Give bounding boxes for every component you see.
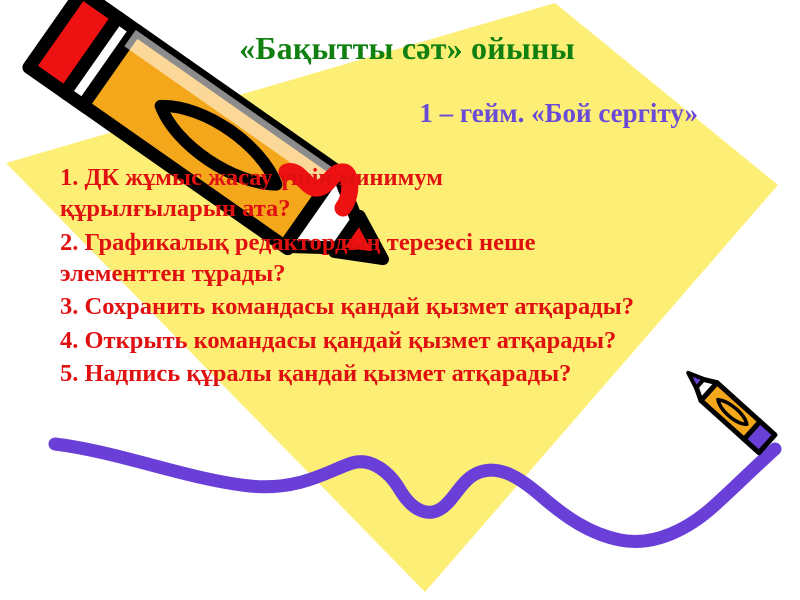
question-item-2: 2. Графикалық редактордың терезесі неше … — [60, 227, 660, 290]
slide-title: «Бақытты сәт» ойыны — [0, 32, 800, 66]
question-item-1: 1. ДК жұмыс жасау үшін минимум құрылғыла… — [60, 162, 580, 225]
slide-canvas: «Бақытты сәт» ойыны 1 – гейм. «Бой сергі… — [0, 0, 800, 600]
question-list: 1. ДК жұмыс жасау үшін минимум құрылғыла… — [60, 162, 740, 392]
question-item-4: 4. Открыть командасы қандай қызмет атқар… — [60, 325, 640, 356]
question-item-3: 3. Сохранить командасы қандай қызмет атқ… — [60, 291, 640, 322]
question-item-5: 5. Надпись құралы қандай қызмет атқарады… — [60, 358, 740, 389]
slide-subtitle: 1 – гейм. «Бой сергіту» — [0, 99, 800, 127]
